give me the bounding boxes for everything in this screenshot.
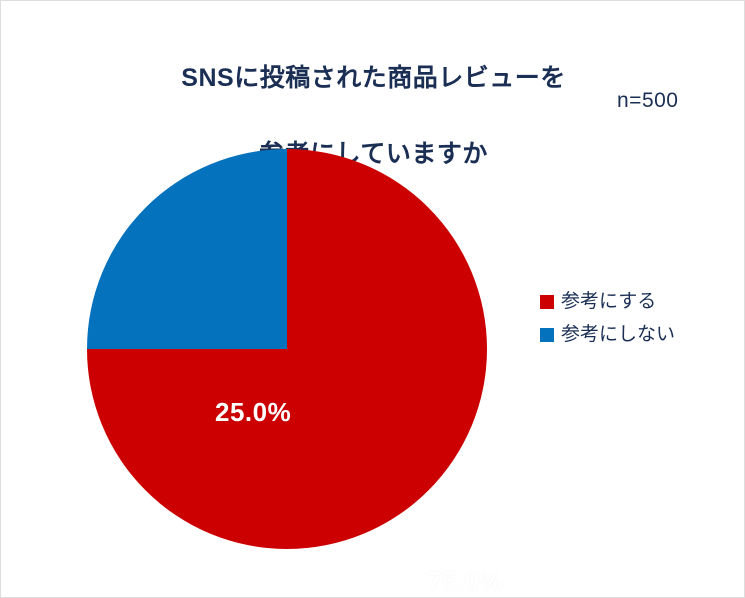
legend-swatch-icon [540,328,554,342]
pie-slice[interactable] [87,149,287,349]
legend-item-sankou-suru[interactable]: 参考にする [540,285,675,318]
slice-value-label-sankou-suru: 75.0% [427,566,503,597]
legend-item-sankou-shinai[interactable]: 参考にしない [540,318,675,351]
chart-legend: 参考にする 参考にしない [540,285,675,351]
legend-item-label: 参考にしない [561,325,675,344]
legend-swatch-icon [540,295,554,309]
pie-graphic: 75.0% 25.0% [87,149,487,549]
pie-svg [87,149,487,549]
legend-item-label: 参考にする [561,292,656,311]
slice-value-label-sankou-shinai: 25.0% [215,397,291,428]
pie-chart-figure: SNSに投稿された商品レビューを 参考にしていますか n=500 75.0% 2… [0,0,745,598]
sample-size-annotation: n=500 [617,89,678,113]
